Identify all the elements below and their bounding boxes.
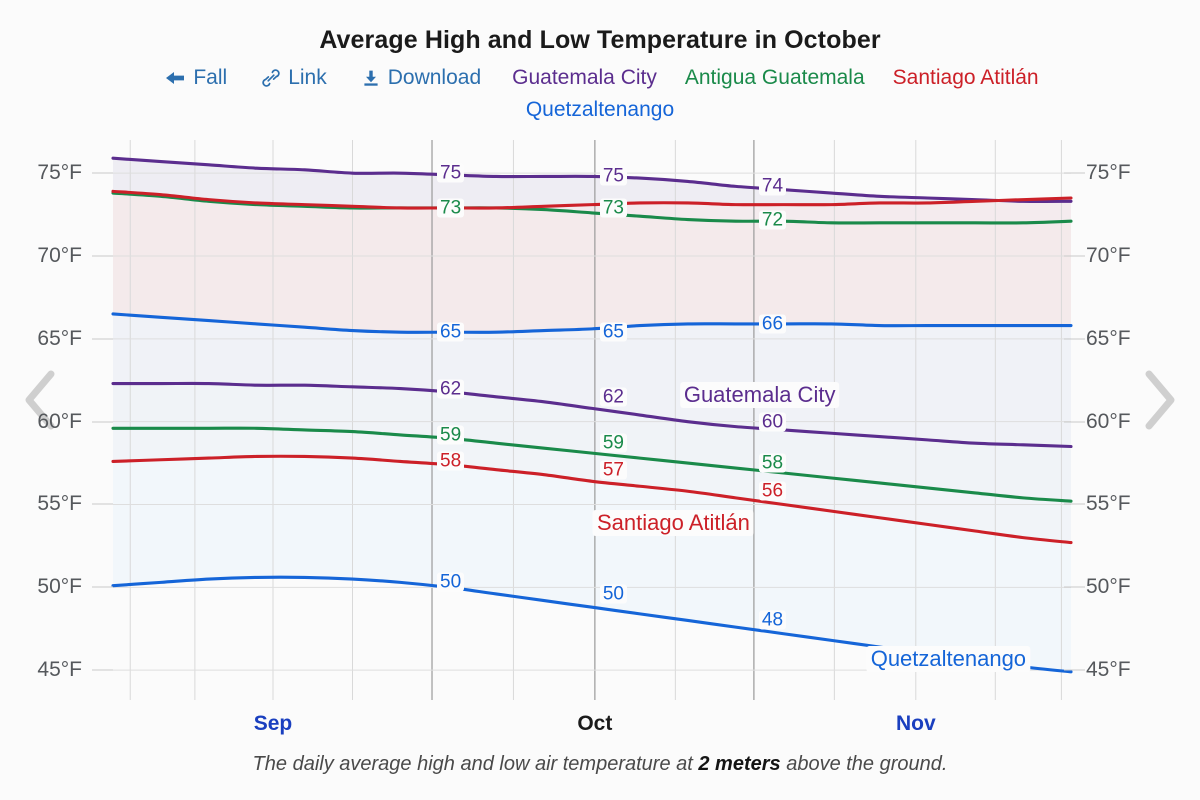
page-title: Average High and Low Temperature in Octo… <box>0 26 1200 55</box>
data-point-label: 73 <box>600 198 627 217</box>
y-axis-tick-right <box>1064 338 1085 339</box>
toolbar: Fall Link Download <box>0 62 1200 126</box>
legend-label: Quetzaltenango <box>526 98 674 121</box>
series-band <box>113 314 1071 672</box>
series-annotation-guatemala-city: Guatemala City <box>680 382 840 408</box>
y-axis-tick-right <box>1064 421 1085 422</box>
link-button[interactable]: Link <box>244 63 344 93</box>
y-axis-tick-right <box>1064 173 1085 174</box>
y-axis-tick-left <box>92 670 113 671</box>
y-axis-label-left: 75°F <box>0 161 82 185</box>
y-axis-label-right: 75°F <box>1086 161 1131 185</box>
link-icon <box>261 68 281 88</box>
y-axis-label-left: 50°F <box>0 575 82 599</box>
download-label: Download <box>388 63 481 93</box>
data-point-label: 62 <box>600 387 627 406</box>
y-axis-label-left: 55°F <box>0 492 82 516</box>
y-axis-label-left: 70°F <box>0 244 82 268</box>
data-point-label: 58 <box>437 452 464 471</box>
x-axis-label-nov[interactable]: Nov <box>896 712 936 736</box>
y-axis-tick-right <box>1064 587 1085 588</box>
chart-caption: The daily average high and low air tempe… <box>0 753 1200 776</box>
legend-link-santiago-atitlan[interactable]: Santiago Atitlán <box>879 62 1053 94</box>
data-point-label: 56 <box>759 482 786 501</box>
arrow-left-icon <box>164 68 186 88</box>
caption-post: above the ground. <box>781 753 948 775</box>
data-point-label: 72 <box>759 210 786 229</box>
chart-page: Average High and Low Temperature in Octo… <box>0 0 1200 800</box>
caption-bold: 2 meters <box>698 753 780 775</box>
y-axis-label-left: 60°F <box>0 410 82 434</box>
y-axis-tick-left <box>92 587 113 588</box>
chevron-right-icon <box>1136 360 1182 440</box>
legend-link-guatemala-city[interactable]: Guatemala City <box>498 62 671 94</box>
y-axis-tick-left <box>92 255 113 256</box>
data-point-label: 62 <box>437 379 464 398</box>
download-icon <box>361 68 381 88</box>
y-axis-tick-left <box>92 173 113 174</box>
y-axis-label-left: 65°F <box>0 327 82 351</box>
series-annotation-santiago-atitl-n: Santiago Atitlán <box>593 510 754 536</box>
data-point-label: 58 <box>759 454 786 473</box>
y-axis-tick-right <box>1064 255 1085 256</box>
x-axis-label-sep[interactable]: Sep <box>254 712 293 736</box>
legend-label: Antigua Guatemala <box>685 66 865 89</box>
y-axis-label-right: 55°F <box>1086 492 1131 516</box>
data-point-label: 75 <box>600 167 627 186</box>
next-month-button[interactable] <box>1136 360 1182 440</box>
data-point-label: 66 <box>759 314 786 333</box>
x-axis-label-oct: Oct <box>577 712 612 736</box>
data-point-label: 57 <box>600 460 627 479</box>
plot-area: SepOctNov7573656259585075736562595750747… <box>113 140 1071 700</box>
y-axis-tick-right <box>1064 670 1085 671</box>
legend-label: Santiago Atitlán <box>893 66 1039 89</box>
legend-label: Guatemala City <box>512 66 657 89</box>
y-axis-label-left: 45°F <box>0 658 82 682</box>
y-axis-label-right: 70°F <box>1086 244 1131 268</box>
data-point-label: 59 <box>600 434 627 453</box>
back-fall-button[interactable]: Fall <box>147 63 244 93</box>
legend-link-antigua-guatemala[interactable]: Antigua Guatemala <box>671 62 879 94</box>
data-point-label: 74 <box>759 177 786 196</box>
data-point-label: 65 <box>437 323 464 342</box>
data-point-label: 48 <box>759 611 786 630</box>
download-button[interactable]: Download <box>344 63 498 93</box>
y-axis-label-right: 50°F <box>1086 575 1131 599</box>
y-axis-tick-left <box>92 504 113 505</box>
back-fall-label: Fall <box>193 63 227 93</box>
legend-link-quetzaltenango[interactable]: Quetzaltenango <box>512 94 688 126</box>
data-point-label: 59 <box>437 425 464 444</box>
y-axis-label-right: 65°F <box>1086 327 1131 351</box>
data-point-label: 60 <box>759 412 786 431</box>
data-point-label: 65 <box>600 323 627 342</box>
data-point-label: 73 <box>437 198 464 217</box>
link-label: Link <box>288 63 327 93</box>
y-axis-tick-right <box>1064 504 1085 505</box>
data-point-label: 50 <box>600 584 627 603</box>
chart-canvas <box>113 140 1071 700</box>
caption-pre: The daily average high and low air tempe… <box>253 753 699 775</box>
y-axis-tick-left <box>92 338 113 339</box>
data-point-label: 75 <box>437 164 464 183</box>
y-axis-label-right: 45°F <box>1086 658 1131 682</box>
temperature-chart: SepOctNov7573656259585075736562595750747… <box>113 140 1071 700</box>
data-point-label: 50 <box>437 573 464 592</box>
y-axis-label-right: 60°F <box>1086 410 1131 434</box>
series-annotation-quetzaltenango: Quetzaltenango <box>867 646 1030 672</box>
y-axis-tick-left <box>92 421 113 422</box>
